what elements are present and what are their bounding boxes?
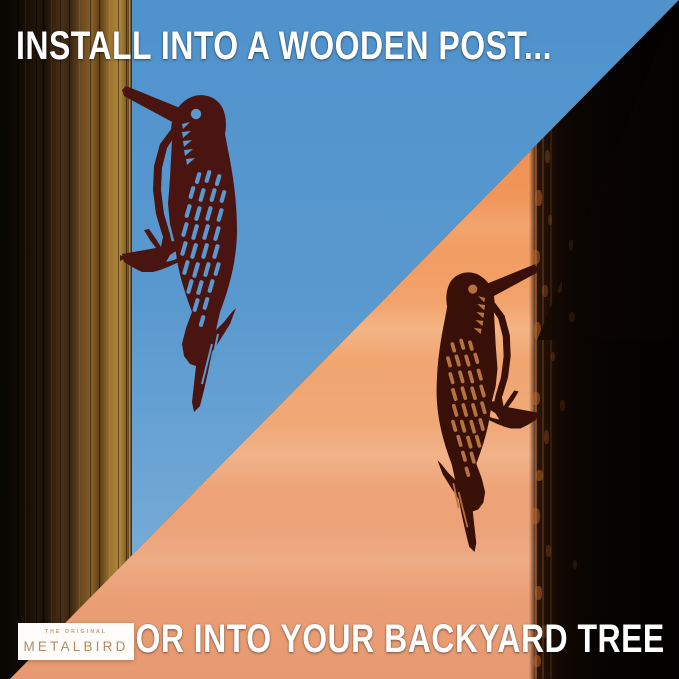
headline-bottom: ...OR INTO YOUR BACKYARD TREE [108, 619, 665, 659]
woodpecker-silhouette-tree [420, 252, 552, 552]
headline-top: INSTALL INTO A WOODEN POST... [16, 26, 552, 66]
logo-wordmark: METALBIRD [23, 639, 128, 654]
woodpecker-silhouette-post [120, 72, 242, 412]
promo-image: INSTALL INTO A WOODEN POST... ...OR INTO… [0, 0, 679, 679]
metalbird-logo: THE ORIGINAL METALBIRD [18, 623, 134, 660]
logo-tagline: THE ORIGINAL [45, 629, 107, 635]
